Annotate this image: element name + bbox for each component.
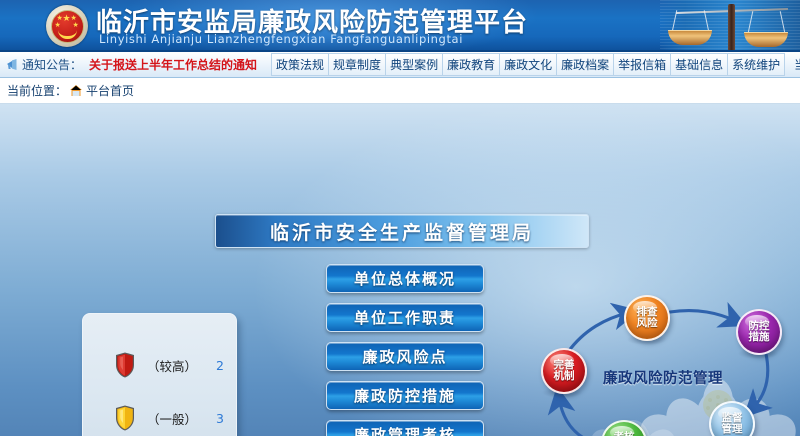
organization-banner: 临沂市安全生产监督管理局 (215, 214, 589, 248)
nav-item-rules-system[interactable]: 规章制度 (328, 53, 385, 76)
login-label: 当前登录: (794, 56, 800, 73)
top-navigation-bar: 通知公告： 关于报送上半年工作总结的通知 政策法规 规章制度 典型案例 廉政教育… (0, 52, 800, 78)
risk-points-button[interactable]: 廉政风险点 (326, 342, 484, 371)
home-icon (69, 84, 83, 97)
organization-name: 临沂市安全生产监督管理局 (270, 218, 534, 245)
breadcrumb: 当前位置： 平台首页 (0, 78, 800, 104)
breadcrumb-label: 当前位置： (7, 82, 67, 99)
page-title-pinyin: Linyishi Anjianju Lianzhengfengxian Fang… (99, 32, 463, 46)
china-national-emblem-icon: ★ ★ ★ ★ ★ (46, 5, 88, 47)
unit-duties-button[interactable]: 单位工作职责 (326, 303, 484, 332)
risk-management-cycle-diagram: 廉政风险防范管理 排查 风险 防控 措施 监督 管理 考核 (510, 272, 800, 436)
shield-yellow-icon (115, 405, 135, 431)
main-content-area: 临沂市安全生产监督管理局 （较高） 2 (0, 104, 800, 436)
nav-menu: 政策法规 规章制度 典型案例 廉政教育 廉政文化 廉政档案 举报信箱 基础信息 … (271, 53, 785, 76)
shield-red-icon (115, 352, 135, 378)
cycle-center-label: 廉政风险防范管理 (588, 367, 738, 388)
stat-label-high: （较高） (147, 356, 197, 375)
scales-of-justice-image (660, 0, 800, 52)
announcement-icon (6, 58, 19, 71)
nav-item-typical-cases[interactable]: 典型案例 (385, 53, 442, 76)
notice-label: 通知公告： (22, 56, 82, 73)
stat-count-medium: 3 (216, 411, 224, 426)
login-status: 当前登录: 超级管理员 | 退出系 (794, 56, 800, 73)
breadcrumb-current[interactable]: 平台首页 (86, 82, 134, 99)
nav-item-report-mailbox[interactable]: 举报信箱 (613, 53, 670, 76)
nav-item-basic-info[interactable]: 基础信息 (670, 53, 727, 76)
node-investigate-risk[interactable]: 排查 风险 (624, 295, 670, 341)
stat-row-medium[interactable]: （一般） 3 (83, 400, 236, 436)
node-improve-mechanism[interactable]: 完善 机制 (541, 348, 587, 394)
nav-item-integrity-education[interactable]: 廉政教育 (442, 53, 499, 76)
nav-item-policy-regulations[interactable]: 政策法规 (271, 53, 328, 76)
nav-item-integrity-archives[interactable]: 廉政档案 (556, 53, 613, 76)
stat-row-high[interactable]: （较高） 2 (83, 347, 236, 383)
management-assessment-button[interactable]: 廉政管理考核 (326, 420, 484, 436)
notice-headline-link[interactable]: 关于报送上半年工作总结的通知 (89, 56, 257, 73)
control-measures-button[interactable]: 廉政防控措施 (326, 381, 484, 410)
page-header: ★ ★ ★ ★ ★ 临沂市安监局廉政风险防范管理平台 Linyishi Anji… (0, 0, 800, 52)
unit-overview-button[interactable]: 单位总体概况 (326, 264, 484, 293)
nav-item-system-maintenance[interactable]: 系统维护 (727, 53, 785, 76)
stat-label-medium: （一般） (147, 409, 197, 428)
platform-page: ★ ★ ★ ★ ★ 临沂市安监局廉政风险防范管理平台 Linyishi Anji… (0, 0, 800, 436)
nav-item-integrity-culture[interactable]: 廉政文化 (499, 53, 556, 76)
main-menu-buttons: 单位总体概况 单位工作职责 廉政风险点 廉政防控措施 廉政管理考核 单位科室设置 (326, 264, 484, 436)
node-control-measures[interactable]: 防控 措施 (736, 309, 782, 355)
stat-count-high: 2 (216, 358, 224, 373)
risk-level-stats-panel: （较高） 2 （一般） 3 (82, 313, 237, 436)
